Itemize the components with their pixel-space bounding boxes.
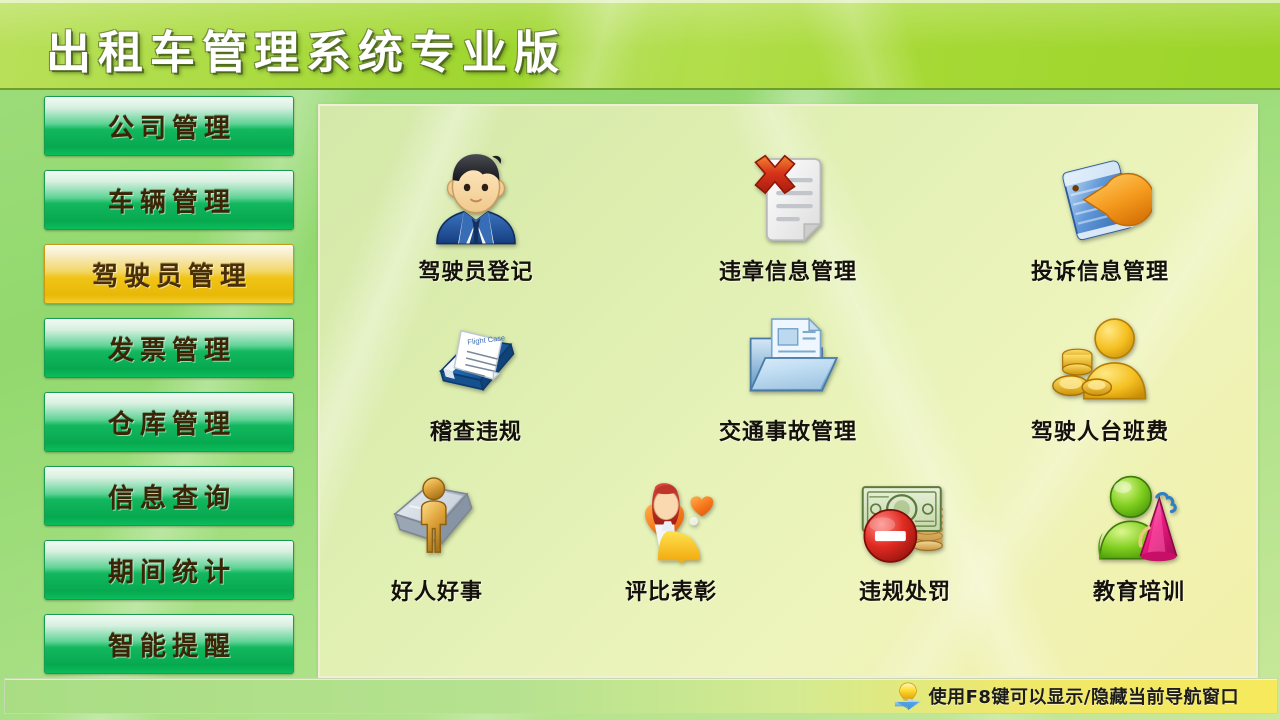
- sidebar-item-invoice[interactable]: 发票管理: [44, 318, 294, 378]
- gold-person-coins-icon: [1048, 306, 1152, 410]
- tile-inspection-violation[interactable]: Flight Case 稽查违规: [320, 306, 632, 446]
- tile-label: 投诉信息管理: [1031, 254, 1169, 286]
- tile-penalty[interactable]: 违规处罚: [788, 466, 1022, 606]
- person-on-book-icon: [385, 466, 489, 570]
- status-bar: 使用F8键可以显示/隐藏当前导航窗口: [4, 678, 1278, 714]
- tile-label: 违章信息管理: [719, 254, 857, 286]
- tile-violation-info[interactable]: 违章信息管理: [632, 146, 944, 286]
- tile-training[interactable]: 教育培训: [1022, 466, 1256, 606]
- money-deny-icon: [853, 466, 957, 570]
- sidebar-item-stats[interactable]: 期间统计: [44, 540, 294, 600]
- status-tip-text: 使用F8键可以显示/隐藏当前导航窗口: [929, 683, 1239, 709]
- tile-complaint-info[interactable]: 投诉信息管理: [944, 146, 1256, 286]
- page-title: 出租车管理系统专业版: [46, 16, 566, 81]
- sidebar-item-label: 智能提醒: [102, 626, 236, 663]
- award-hearts-icon: [619, 466, 723, 570]
- tile-label: 好人好事: [391, 574, 483, 606]
- tile-traffic-accident[interactable]: 交通事故管理: [632, 306, 944, 446]
- tile-row: 驾驶员登记 违章信息管理 投诉信息管理: [320, 146, 1256, 286]
- sidebar-item-label: 发票管理: [102, 330, 236, 367]
- tile-label: 稽查违规: [430, 414, 522, 446]
- sidebar-item-reminder[interactable]: 智能提醒: [44, 614, 294, 674]
- sidebar-item-warehouse[interactable]: 仓库管理: [44, 392, 294, 452]
- tile-label: 教育培训: [1093, 574, 1185, 606]
- person-cone-icon: [1087, 466, 1191, 570]
- tile-label: 驾驶员登记: [418, 254, 533, 286]
- title-bar-highlight: [0, 0, 1280, 3]
- blue-book-icon: Flight Case: [424, 306, 528, 410]
- sidebar-item-company[interactable]: 公司管理: [44, 96, 294, 156]
- tile-label: 违规处罚: [859, 574, 951, 606]
- complaint-folder-icon: [1048, 146, 1152, 250]
- tile-label: 驾驶人台班费: [1031, 414, 1169, 446]
- tile-row: Flight Case 稽查违规 交通事故管理 驾驶人台班费: [320, 306, 1256, 446]
- lightbulb-icon: [893, 681, 923, 711]
- tile-driver-registration[interactable]: 驾驶员登记: [320, 146, 632, 286]
- tile-label: 评比表彰: [625, 574, 717, 606]
- sidebar-item-label: 驾驶员管理: [86, 256, 252, 293]
- document-red-x-icon: [736, 146, 840, 250]
- sidebar-item-label: 公司管理: [102, 108, 236, 145]
- sidebar-item-query[interactable]: 信息查询: [44, 466, 294, 526]
- sidebar-item-label: 车辆管理: [102, 182, 236, 219]
- content-panel: 驾驶员登记 违章信息管理 投诉信息管理 Flight Case 稽查违规 交通事…: [318, 104, 1258, 678]
- tile-row: 好人好事 评比表彰 违规处罚 教育培训: [320, 466, 1256, 606]
- tile-driver-shift-fee[interactable]: 驾驶人台班费: [944, 306, 1256, 446]
- title-bar: 出租车管理系统专业版: [0, 0, 1280, 90]
- sidebar-item-label: 信息查询: [102, 478, 236, 515]
- blue-folder-doc-icon: [736, 306, 840, 410]
- status-tip: 使用F8键可以显示/隐藏当前导航窗口: [893, 681, 1277, 711]
- sidebar-item-label: 仓库管理: [102, 404, 236, 441]
- tile-good-deeds[interactable]: 好人好事: [320, 466, 554, 606]
- tile-label: 交通事故管理: [719, 414, 857, 446]
- person-suit-icon: [424, 146, 528, 250]
- sidebar-item-vehicle[interactable]: 车辆管理: [44, 170, 294, 230]
- sidebar-item-label: 期间统计: [102, 552, 236, 589]
- navigation-sidebar: 公司管理车辆管理驾驶员管理发票管理仓库管理信息查询期间统计智能提醒: [8, 96, 308, 680]
- tile-commendation[interactable]: 评比表彰: [554, 466, 788, 606]
- sidebar-item-driver[interactable]: 驾驶员管理: [44, 244, 294, 304]
- application-window: 出租车管理系统专业版 公司管理车辆管理驾驶员管理发票管理仓库管理信息查询期间统计…: [0, 0, 1280, 720]
